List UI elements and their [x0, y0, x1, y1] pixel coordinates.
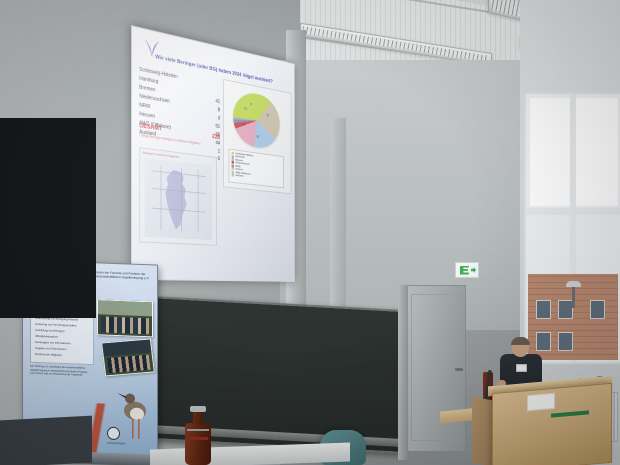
bottle-cap — [190, 406, 206, 412]
projected-slide: Wie viele Beringer (oder BG) haben 2024 … — [131, 25, 295, 282]
pie-slice-label: 60 — [257, 135, 260, 139]
bottle-wire — [187, 429, 209, 431]
emergency-exit-sign — [455, 262, 479, 278]
brown-bottle — [185, 405, 211, 465]
banner-bullet: Vergabe von Förderpreisen — [35, 347, 66, 351]
wall-pillar — [330, 118, 346, 338]
foreground-dark-object — [0, 416, 92, 465]
window-pane — [530, 98, 570, 206]
exterior-window — [536, 300, 551, 319]
pie-chart — [233, 89, 280, 150]
banner-url: www.proring.de — [107, 442, 126, 446]
map-card: Beringer in mehreren Regionen — [139, 147, 217, 246]
pie-chart-legend: Schleswig-HolsteinHamburgBremenNiedersac… — [229, 149, 284, 189]
exterior-window — [558, 300, 573, 319]
banner-bullet: Ausbildung von Beringern — [35, 329, 65, 333]
presenter-name-badge — [516, 364, 527, 372]
slide-content: Wie viele Beringer (oder BG) haben 2024 … — [132, 26, 294, 281]
pie-slice-label: 41 — [244, 107, 247, 111]
proring-seal-logo — [107, 427, 120, 440]
pie-chart-area: 91 60 44 41 8 — [229, 86, 287, 154]
street-lamp-pole — [572, 286, 575, 308]
total-value: 228 — [212, 134, 220, 141]
banner-bullet: Förderung von Forschungsprojekten — [35, 323, 77, 328]
banner-group-photo — [97, 299, 153, 337]
pie-chart-card: 91 60 44 41 8 Schleswig-HolsteinHamburgB… — [223, 79, 291, 194]
banner-bullet: Öffentlichkeitsarbeit — [35, 335, 58, 339]
banner-tagline: Verein der Freunde und Förderer der wiss… — [95, 270, 153, 281]
pie-slice-label: 44 — [243, 123, 246, 127]
papers-on-lectern — [527, 393, 555, 411]
exterior-window — [590, 300, 605, 319]
banner-wader-bird-photo — [115, 384, 155, 448]
exit-arrow-icon — [471, 267, 476, 273]
window-pane — [576, 98, 618, 206]
banner-field-photo — [101, 338, 155, 376]
region-value: 5 — [218, 156, 220, 165]
legend-label: Ausland — [235, 174, 243, 178]
lecture-hall-scene: Wie viele Beringer (oder BG) haben 2024 … — [0, 0, 620, 465]
region-value: 1 — [218, 148, 220, 157]
street-lamp-head — [566, 281, 581, 287]
exterior-window — [558, 332, 573, 351]
legend-swatch — [232, 174, 234, 177]
left-foreground-board — [0, 118, 96, 318]
banner-bullet: Beratung der Mitglieder — [35, 353, 62, 357]
chalkboard-rail — [398, 285, 408, 460]
banner-body-text: Der ProRing e.V. unterstützt die wissens… — [30, 365, 92, 378]
germany-outline — [162, 169, 192, 231]
germany-regions-map — [145, 158, 213, 240]
pie-slice-label: 8 — [251, 102, 252, 106]
bottle-label — [188, 437, 208, 440]
presenter-hair — [511, 337, 530, 345]
lecture-hall-door[interactable] — [404, 285, 466, 452]
door-handle[interactable] — [455, 368, 463, 371]
projection-screen: Wie viele Beringer (oder BG) haben 2024 … — [131, 25, 295, 282]
banner-bullet: Herausgabe von Informationen — [35, 341, 71, 345]
pie-slice-label: 91 — [267, 114, 270, 118]
